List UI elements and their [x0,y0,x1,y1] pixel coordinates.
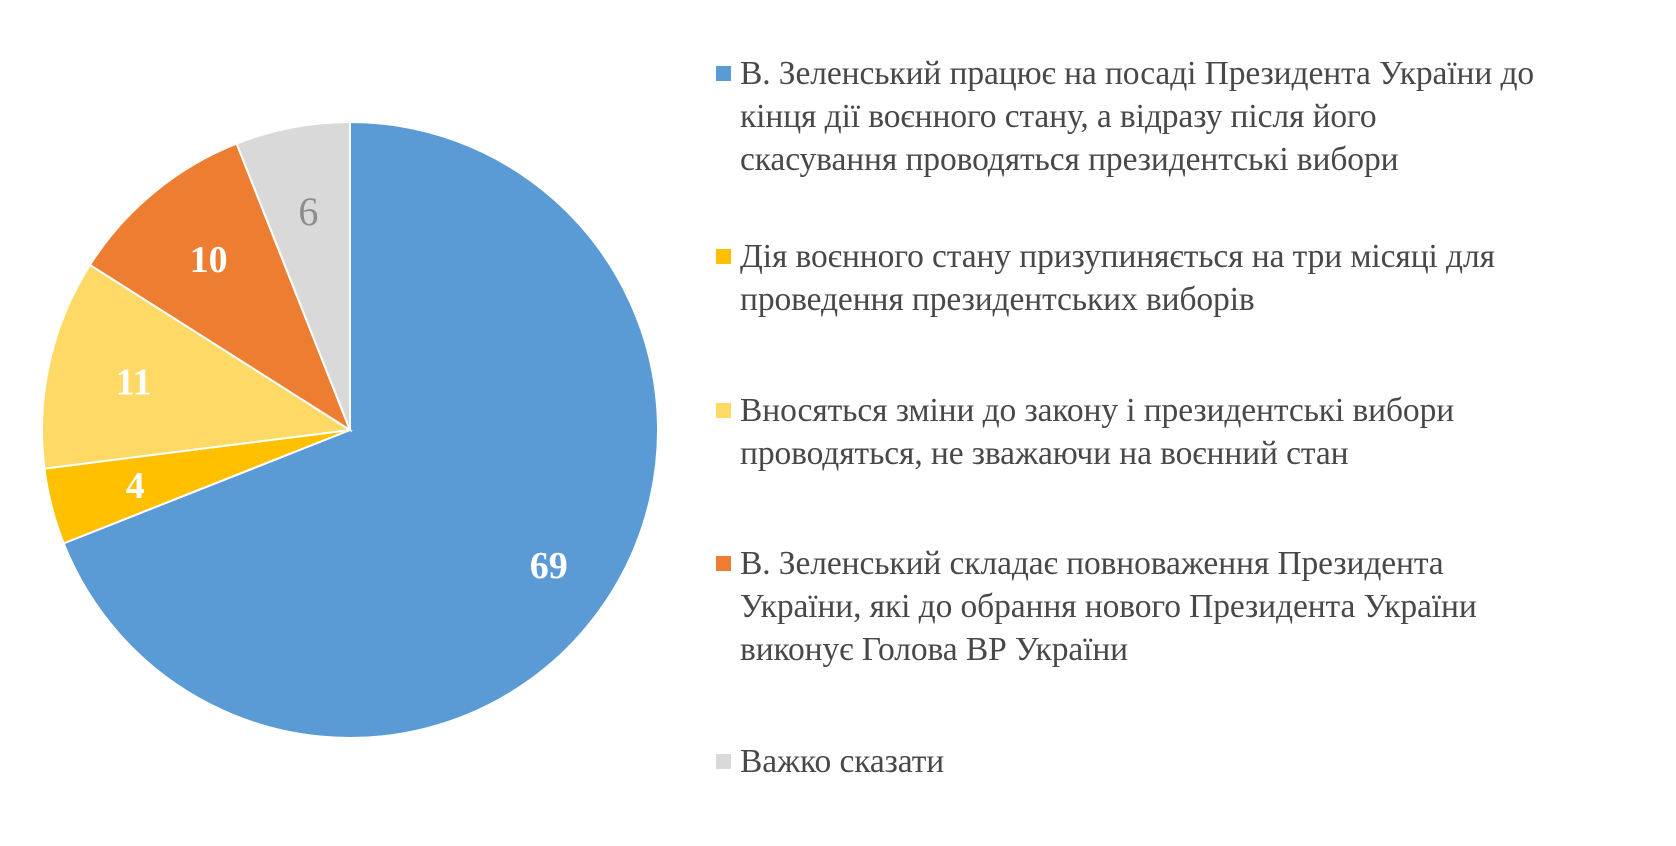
pie-value-label: 11 [116,362,152,404]
legend-item-label: В. Зеленський працює на посаді Президент… [740,52,1540,181]
legend-swatch-icon [716,403,731,418]
legend-item-label: Важко сказати [740,740,1616,783]
chart-page: 69411106 В. Зеленський працює на посаді … [0,0,1676,846]
legend-swatch-icon [716,556,731,571]
pie-value-label: 69 [530,545,568,587]
legend-item-label: Вносяться зміни до закону і президентськ… [740,389,1520,475]
legend-item-blue[interactable]: В. Зеленський працює на посаді Президент… [716,52,1616,181]
legend-item-label: Дія воєнного стану призупиняється на три… [740,235,1540,321]
legend-item-orange[interactable]: В. Зеленський складає повноваження Прези… [716,542,1616,671]
pie-value-label: 10 [190,239,228,281]
legend-swatch-icon [716,754,731,769]
legend-swatch-icon [716,249,731,264]
pie-slice-group [42,122,658,738]
legend-item-gold[interactable]: Дія воєнного стану призупиняється на три… [716,235,1616,321]
pie-chart: 69411106 [40,118,660,742]
pie-chart-svg: 69411106 [40,118,660,742]
pie-value-label: 6 [298,189,318,234]
legend-item-grey[interactable]: Важко сказати [716,740,1616,783]
legend-item-light-yellow[interactable]: Вносяться зміни до закону і президентськ… [716,389,1616,475]
legend-swatch-icon [716,66,731,81]
pie-value-label: 4 [126,465,145,507]
chart-legend: В. Зеленський працює на посаді Президент… [716,52,1626,812]
legend-item-label: В. Зеленський складає повноваження Прези… [740,542,1530,671]
